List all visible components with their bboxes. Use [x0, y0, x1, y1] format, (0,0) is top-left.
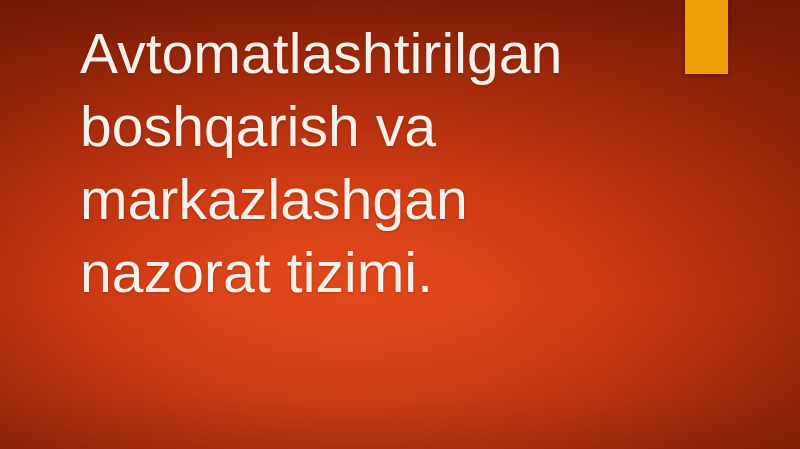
title-line-3: markazlashgan: [80, 164, 680, 237]
title-line-2: boshqarish va: [80, 91, 680, 164]
title-line-4: nazorat tizimi.: [80, 237, 680, 310]
title-line-1: Avtomatlashtirilgan: [80, 18, 680, 91]
slide-title: Avtomatlashtirilgan boshqarish va markaz…: [80, 18, 680, 310]
presentation-slide: Avtomatlashtirilgan boshqarish va markaz…: [0, 0, 800, 449]
accent-bar-rectangle: [685, 0, 728, 74]
